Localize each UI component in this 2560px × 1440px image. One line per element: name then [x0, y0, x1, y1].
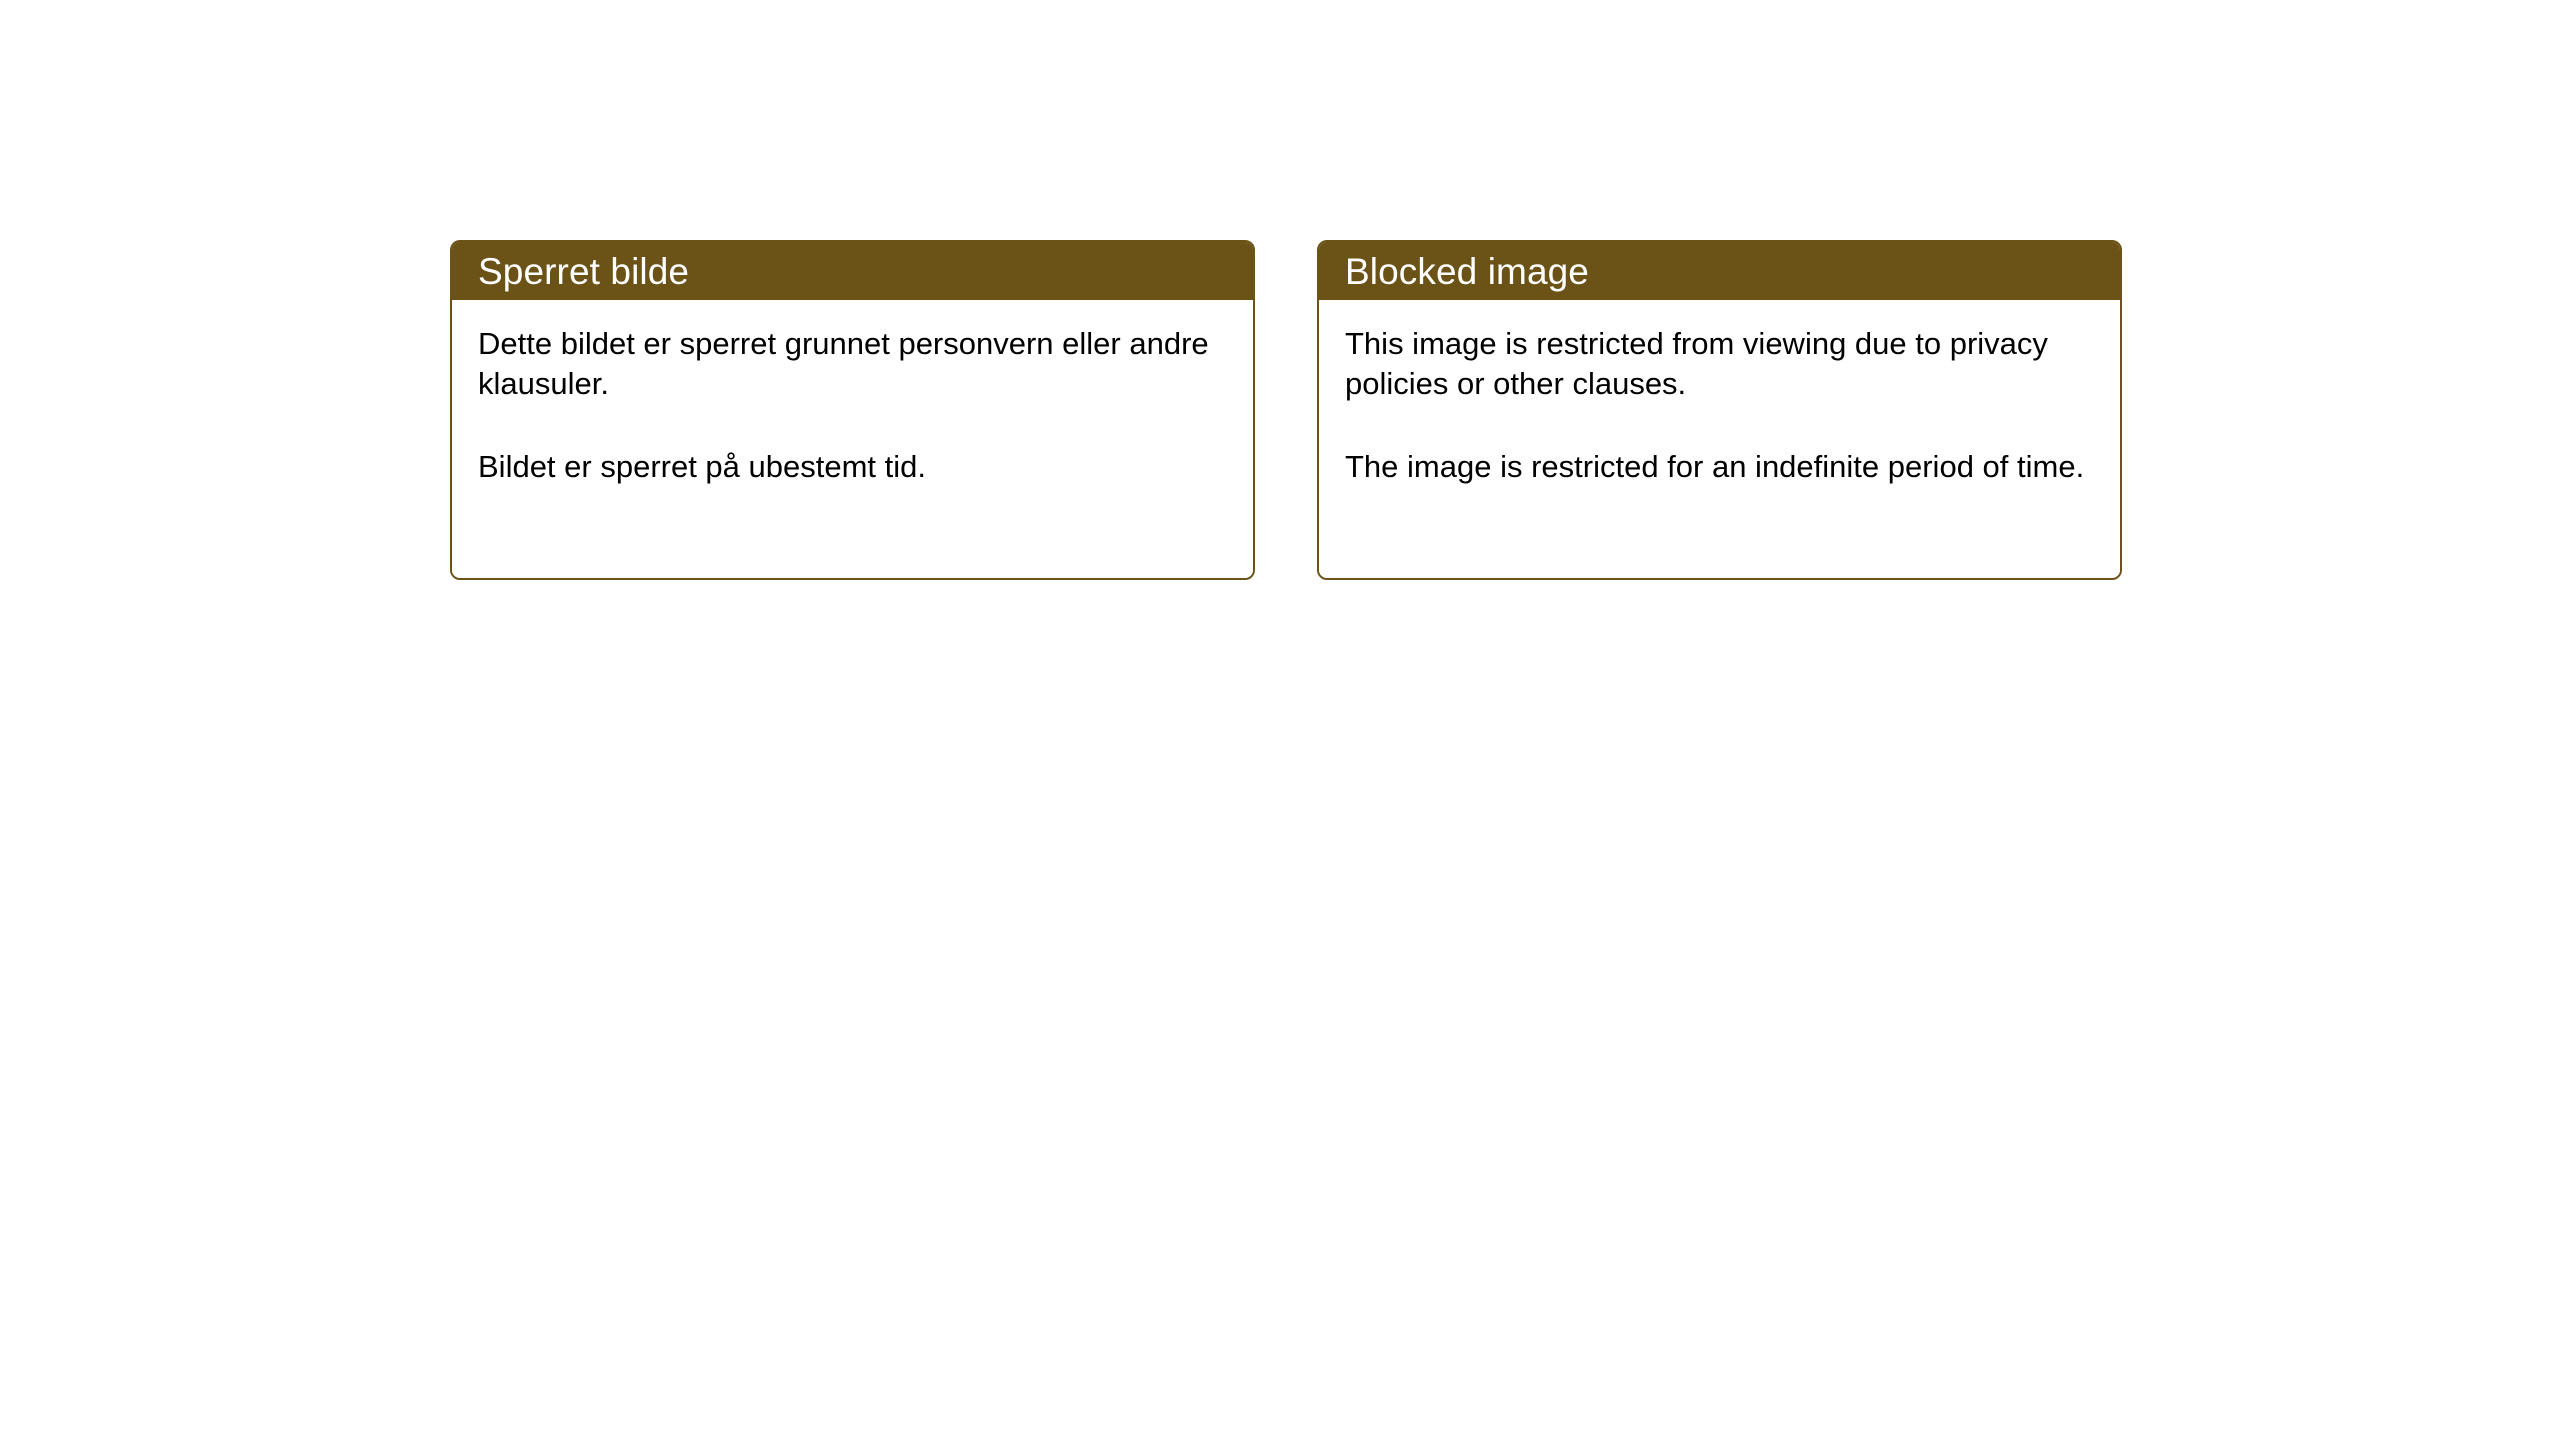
card-paragraph-reason-english: This image is restricted from viewing du…: [1345, 324, 2085, 405]
card-paragraph-duration-norwegian: Bildet er sperret på ubestemt tid.: [478, 447, 1218, 487]
blocked-image-card-norwegian: Sperret bilde Dette bildet er sperret gr…: [450, 240, 1255, 580]
card-body-english: This image is restricted from viewing du…: [1319, 300, 2120, 578]
card-header-norwegian: Sperret bilde: [452, 242, 1253, 300]
card-body-norwegian: Dette bildet er sperret grunnet personve…: [452, 300, 1253, 578]
card-header-english: Blocked image: [1319, 242, 2120, 300]
card-paragraph-reason-norwegian: Dette bildet er sperret grunnet personve…: [478, 324, 1218, 405]
card-paragraph-duration-english: The image is restricted for an indefinit…: [1345, 447, 2085, 487]
blocked-image-card-english: Blocked image This image is restricted f…: [1317, 240, 2122, 580]
card-title-english: Blocked image: [1345, 253, 1589, 290]
card-title-norwegian: Sperret bilde: [478, 253, 689, 290]
blocked-image-notice-area: Sperret bilde Dette bildet er sperret gr…: [450, 240, 2122, 580]
